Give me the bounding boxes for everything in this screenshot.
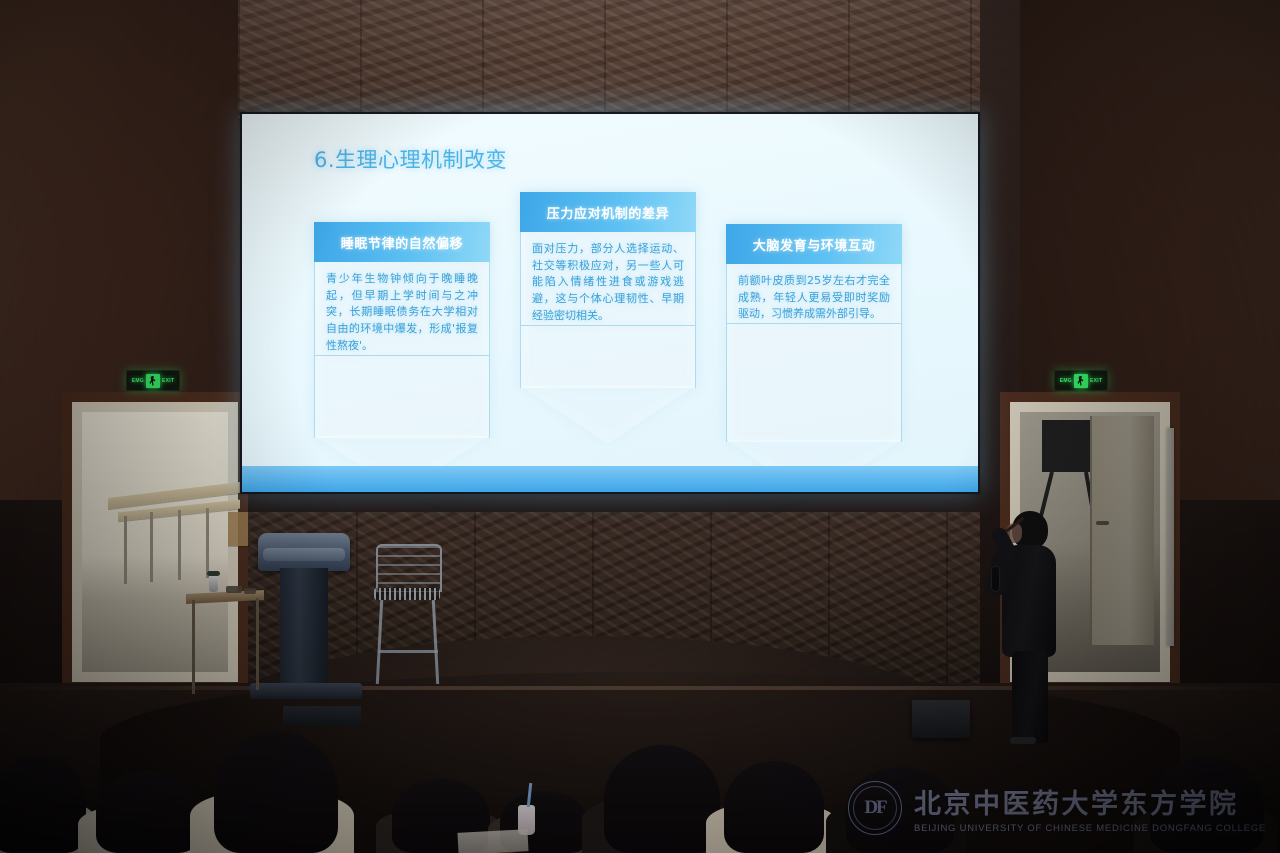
audience-hair xyxy=(214,731,338,853)
table-object xyxy=(226,586,242,593)
university-name-en: BEIJING UNIVERSITY OF CHINESE MEDICINE D… xyxy=(914,823,1266,834)
table-leg xyxy=(206,508,209,578)
stool-seat xyxy=(374,588,440,600)
exit-sign-right: EMG EXIT xyxy=(1054,370,1108,391)
handout-paper xyxy=(457,829,528,853)
lectern-lip xyxy=(263,548,345,561)
audience-hair xyxy=(96,771,200,853)
microphone xyxy=(992,567,999,591)
card-heading: 压力应对机制的差异 xyxy=(520,192,696,232)
audience-hair xyxy=(604,745,720,853)
cup-lid xyxy=(207,571,220,576)
card-body-text: 前额叶皮质到25岁左右才完全成熟，年轻人更易受即时奖励驱动，习惯养成需外部引导。 xyxy=(726,264,902,324)
stool-backrest xyxy=(376,544,442,592)
slide-card-group: 睡眠节律的自然偏移 青少年生物钟倾向于晚睡晚起，但早期上学时间与之冲突，长期睡眠… xyxy=(242,114,978,492)
card-tail xyxy=(520,326,696,388)
exit-sign-label-right: EXIT xyxy=(162,378,174,384)
stool-footrail xyxy=(378,650,438,653)
university-name-cn: 北京中医药大学东方学院 xyxy=(914,782,1266,821)
side-table-leg xyxy=(192,600,195,694)
card-body-text: 青少年生物钟倾向于晚睡晚起，但早期上学时间与之冲突，长期睡眠债务在大学相对自由的… xyxy=(314,262,490,356)
card-body-text: 面对压力，部分人选择运动、社交等积极应对，另一些人可能陷入情绪性进食或游戏逃避，… xyxy=(520,232,696,326)
lecture-hall-photo: EMG EXIT EMG EXIT 6.生理心理机制改变 睡眠节律的自然偏移 青… xyxy=(0,0,1280,853)
audience-hair xyxy=(0,755,86,853)
open-door-leaf xyxy=(1090,416,1154,645)
watermark: DF 北京中医药大学东方学院 BEIJING UNIVERSITY OF CHI… xyxy=(848,777,1266,839)
table-leg xyxy=(150,512,153,582)
card-heading: 睡眠节律的自然偏移 xyxy=(314,222,490,262)
side-table-leg xyxy=(256,598,259,690)
presenter xyxy=(988,505,1078,745)
table-object xyxy=(244,588,256,594)
projection-screen: 6.生理心理机制改变 睡眠节律的自然偏移 青少年生物钟倾向于晚睡晚起，但早期上学… xyxy=(240,112,980,494)
running-man-icon xyxy=(146,374,160,388)
university-seal-logo: DF xyxy=(848,781,902,835)
watermark-text: 北京中医药大学东方学院 BEIJING UNIVERSITY OF CHINES… xyxy=(914,782,1266,834)
slide-card: 睡眠节律的自然偏移 青少年生物钟倾向于晚睡晚起，但早期上学时间与之冲突，长期睡眠… xyxy=(314,222,490,438)
card-tail xyxy=(726,324,902,442)
paper-cup xyxy=(209,575,218,592)
card-arrow-point xyxy=(521,386,695,444)
exit-sign-label-right: EXIT xyxy=(1090,378,1102,384)
stone-wall-upper xyxy=(238,0,980,118)
table-leg xyxy=(124,516,127,584)
card-tail xyxy=(314,356,490,438)
seal-monogram: DF xyxy=(864,797,885,819)
card-heading: 大脑发育与环境互动 xyxy=(726,224,902,264)
stacked-chair xyxy=(228,512,248,546)
exit-sign-label-left: EMG xyxy=(132,378,144,384)
slide-card: 压力应对机制的差异 面对压力，部分人选择运动、社交等积极应对，另一些人可能陷入情… xyxy=(520,192,696,388)
door-handle xyxy=(1096,521,1109,525)
running-man-icon xyxy=(1074,374,1088,388)
corridor-left xyxy=(82,412,228,672)
slide-bottom-band xyxy=(242,466,978,492)
slide-card: 大脑发育与环境互动 前额叶皮质到25岁左右才完全成熟，年轻人更易受即时奖励驱动，… xyxy=(726,224,902,442)
door-push-bar xyxy=(1167,428,1174,646)
lectern-column xyxy=(280,568,328,688)
door-frame-left xyxy=(62,392,248,692)
audience-hair xyxy=(724,761,824,853)
lectern-base xyxy=(250,683,362,699)
table-leg xyxy=(178,510,181,580)
exit-sign-left: EMG EXIT xyxy=(126,370,180,391)
presentation-slide: 6.生理心理机制改变 睡眠节律的自然偏移 青少年生物钟倾向于晚睡晚起，但早期上学… xyxy=(242,114,978,492)
exit-sign-label-left: EMG xyxy=(1060,378,1072,384)
doorway-left xyxy=(62,392,248,692)
